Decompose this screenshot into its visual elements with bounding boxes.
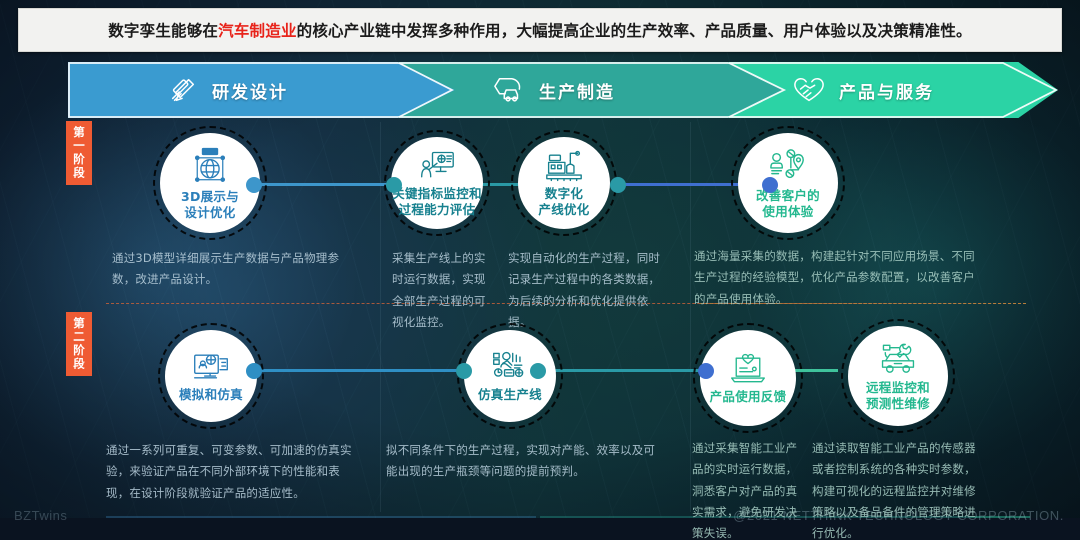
slide-canvas: 数字孪生能够在汽车制造业的核心产业链中发挥多种作用，大幅提高企业的生产效率、产品… xyxy=(0,0,1080,540)
node-ring xyxy=(841,319,955,433)
headline-highlight: 汽车制造业 xyxy=(218,22,297,40)
connector-node-r2-3 xyxy=(530,363,546,379)
node-desc-r2-3: 通过采集智能工业产品的实时运行数据，洞悉客户对产品的真实需求，避免研发决策失误。 xyxy=(692,438,802,540)
node-desc-r1-3: 实现自动化的生产过程，同时记录生产过程中的各类数据，为后续的分析和优化提供依据。 xyxy=(508,248,668,333)
watermark-left: BZTwins xyxy=(14,508,67,523)
node-desc-r2-4: 通过读取智能工业产品的传感器或者控制系统的各种实时参数，构建可视化的远程监控并对… xyxy=(812,438,980,540)
connector-node-r1-3 xyxy=(610,177,626,193)
phase-arrow-band: 研发设计 生产制造 xyxy=(68,62,1058,118)
connector-node-r2-4 xyxy=(698,363,714,379)
node-desc-r2-1: 通过一系列可重复、可变参数、可加速的仿真实验，来验证产品在不同外部环境下的性能和… xyxy=(106,440,354,504)
phase-label-3-text: 产品与服务 xyxy=(839,78,934,103)
phase-label-1: 研发设计 xyxy=(168,62,288,118)
node-desc-r2-2: 拟不同条件下的生产过程，实现对产能、效率以及可能出现的生产瓶颈等问题的提前预判。 xyxy=(386,440,660,483)
phase-label-3: 产品与服务 xyxy=(793,62,934,118)
headline-text: 数字孪生能够在汽车制造业的核心产业链中发挥多种作用，大幅提高企业的生产效率、产品… xyxy=(108,19,972,41)
node-ring xyxy=(457,323,563,429)
stage-tab-1-label: 第一阶段 xyxy=(71,126,87,180)
node-card-r2-1[interactable]: 模拟和仿真 xyxy=(165,330,257,422)
phase-label-1-text: 研发设计 xyxy=(212,78,288,103)
column-separator xyxy=(690,122,691,512)
node-desc-r1-1: 通过3D模型详细展示生产数据与产品物理参数，改进产品设计。 xyxy=(112,248,360,291)
node-card-r1-2[interactable]: 关键指标监控和 过程能力评估 xyxy=(391,137,483,229)
node-card-r1-4[interactable]: 改善客户的 使用体验 xyxy=(738,133,838,233)
headline-suffix: 的核心产业链中发挥多种作用，大幅提高企业的生产效率、产品质量、用户体验以及决策精… xyxy=(297,22,972,40)
phase-label-2-text: 生产制造 xyxy=(539,78,615,103)
connector-r1-a xyxy=(252,183,398,186)
connector-node-r1-4 xyxy=(762,177,778,193)
stage-tab-2[interactable]: 第二阶段 xyxy=(66,312,92,376)
stage-tab-2-label: 第二阶段 xyxy=(71,317,87,371)
handshake-heart-icon xyxy=(793,75,825,105)
connector-node-r2-2 xyxy=(456,363,472,379)
node-card-r2-3[interactable]: 产品使用反馈 xyxy=(700,330,796,426)
node-desc-r1-4: 通过海量采集的数据，构建起针对不同应用场景、不同生产过程的经验模型，优化产品参数… xyxy=(694,246,986,310)
headline-prefix: 数字孪生能够在 xyxy=(108,22,218,40)
connector-node-r2-1 xyxy=(246,363,262,379)
node-card-r1-1[interactable]: 3D 3D展示与 设计优化 xyxy=(160,133,260,233)
connector-r2-a xyxy=(252,369,462,372)
ruler-pencil-icon xyxy=(168,75,198,105)
connector-node-r1-2 xyxy=(386,177,402,193)
headline-banner: 数字孪生能够在汽车制造业的核心产业链中发挥多种作用，大幅提高企业的生产效率、产品… xyxy=(18,8,1062,52)
node-ring xyxy=(731,126,845,240)
node-card-r2-4[interactable]: 远程监控和 预测性维修 xyxy=(848,326,948,426)
car-hexagon-icon xyxy=(493,75,525,105)
node-ring xyxy=(511,130,617,236)
node-card-r1-3[interactable]: 数字化 产线优化 xyxy=(518,137,610,229)
node-desc-r1-2: 采集生产线上的实时运行数据，实现全部生产过程的可视化监控。 xyxy=(392,248,496,333)
phase-label-2: 生产制造 xyxy=(493,62,615,118)
column-separator xyxy=(380,122,381,512)
connector-node-r1-1 xyxy=(246,177,262,193)
stage-tab-1[interactable]: 第一阶段 xyxy=(66,121,92,185)
footer-accent-left xyxy=(106,516,536,518)
